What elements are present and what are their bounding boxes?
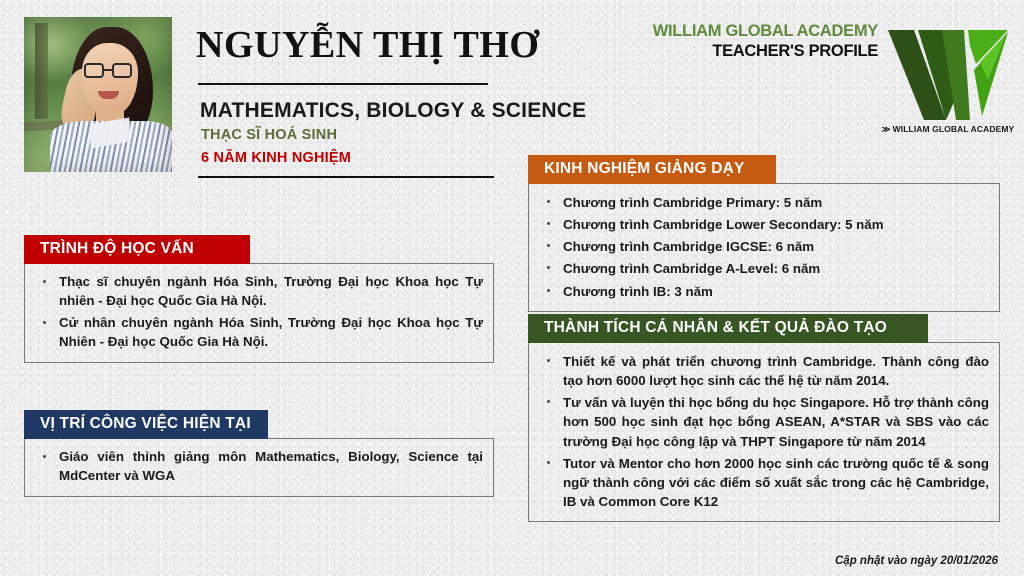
brand-profile-label: TEACHER'S PROFILE [640,42,878,61]
section-education-body: Thạc sĩ chuyên ngành Hóa Sinh, Trường Đạ… [24,263,494,363]
list-item: Thiết kế và phát triển chương trình Camb… [537,352,989,390]
teaching-list: Chương trình Cambridge Primary: 5 năm Ch… [537,193,989,301]
william-global-academy-logo-icon [884,20,1012,140]
section-teaching-header: KINH NGHIỆM GIẢNG DẠY [528,155,776,184]
position-list: Giáo viên thỉnh giảng môn Mathematics, B… [33,448,483,486]
subject-title: MATHEMATICS, BIOLOGY & SCIENCE [200,99,586,123]
brand-text-block: WILLIAM GLOBAL ACADEMY TEACHER'S PROFILE [640,22,878,61]
list-item: Thạc sĩ chuyên ngành Hóa Sinh, Trường Đạ… [33,273,483,311]
section-achievements-header: THÀNH TÍCH CÁ NHÂN & KẾT QUẢ ĐÀO TẠO [528,314,928,343]
list-item: Cử nhân chuyên ngành Hóa Sinh, Trường Đạ… [33,314,483,352]
section-position-header: VỊ TRÍ CÔNG VIỆC HIỆN TẠI [24,410,268,439]
teacher-profile-slide: NGUYỄN THỊ THƠ MATHEMATICS, BIOLOGY & SC… [0,0,1024,576]
updated-date: Cập nhật vào ngày 20/01/2026 [835,555,998,567]
brand-academy-name: WILLIAM GLOBAL ACADEMY [640,22,878,41]
list-item: Chương trình IB: 3 năm [537,282,989,301]
section-teaching-experience: KINH NGHIỆM GIẢNG DẠY Chương trình Cambr… [528,155,1000,312]
photo-vignette [24,17,172,172]
teacher-name: NGUYỄN THỊ THƠ [196,26,526,64]
degree-label: THẠC SĨ HOÁ SINH [201,127,337,143]
name-divider-rule [198,83,488,85]
list-item: Chương trình Cambridge IGCSE: 6 năm [537,237,989,256]
logo-caption: ≫WILLIAM GLOBAL ACADEMY [880,124,1016,135]
list-item: Chương trình Cambridge Primary: 5 năm [537,193,989,212]
education-list: Thạc sĩ chuyên ngành Hóa Sinh, Trường Đạ… [33,273,483,352]
list-item: Tư vấn và luyện thi học bổng du học Sing… [537,393,989,450]
section-teaching-body: Chương trình Cambridge Primary: 5 năm Ch… [528,183,1000,312]
section-education-header: TRÌNH ĐỘ HỌC VẤN [24,235,250,264]
section-position-body: Giáo viên thỉnh giảng môn Mathematics, B… [24,438,494,497]
experience-label: 6 NĂM KINH NGHIỆM [201,150,351,166]
section-current-position: VỊ TRÍ CÔNG VIỆC HIỆN TẠI Giáo viên thỉn… [24,410,494,497]
section-achievements: THÀNH TÍCH CÁ NHÂN & KẾT QUẢ ĐÀO TẠO Thi… [528,314,1000,522]
section-achievements-body: Thiết kế và phát triển chương trình Camb… [528,342,1000,522]
list-item: Chương trình Cambridge A-Level: 6 năm [537,259,989,278]
logo-arrow-icon: ≫ [882,124,891,134]
logo-caption-text: WILLIAM GLOBAL ACADEMY [893,124,1015,134]
list-item: Tutor và Mentor cho hơn 2000 học sinh cá… [537,454,989,511]
section-education: TRÌNH ĐỘ HỌC VẤN Thạc sĩ chuyên ngành Hó… [24,235,494,363]
list-item: Chương trình Cambridge Lower Secondary: … [537,215,989,234]
list-item: Giáo viên thỉnh giảng môn Mathematics, B… [33,448,483,486]
teacher-portrait-photo [24,17,172,172]
header-bottom-rule [198,176,494,178]
achievements-list: Thiết kế và phát triển chương trình Camb… [537,352,989,511]
